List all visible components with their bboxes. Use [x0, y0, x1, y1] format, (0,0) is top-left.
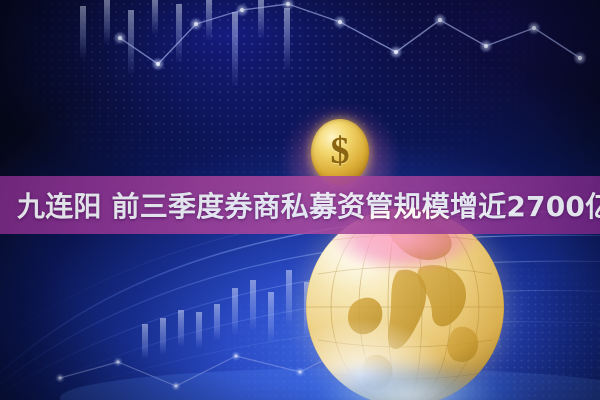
headline-banner: 九连阳 前三季度券商私募资管规模增近2700亿元: [0, 176, 600, 234]
thumbnail-canvas: $ 九连阳 前三季度券商私募资管规模增近2700亿元: [0, 0, 600, 400]
headline-text: 九连阳 前三季度券商私募资管规模增近2700亿元: [17, 185, 600, 225]
